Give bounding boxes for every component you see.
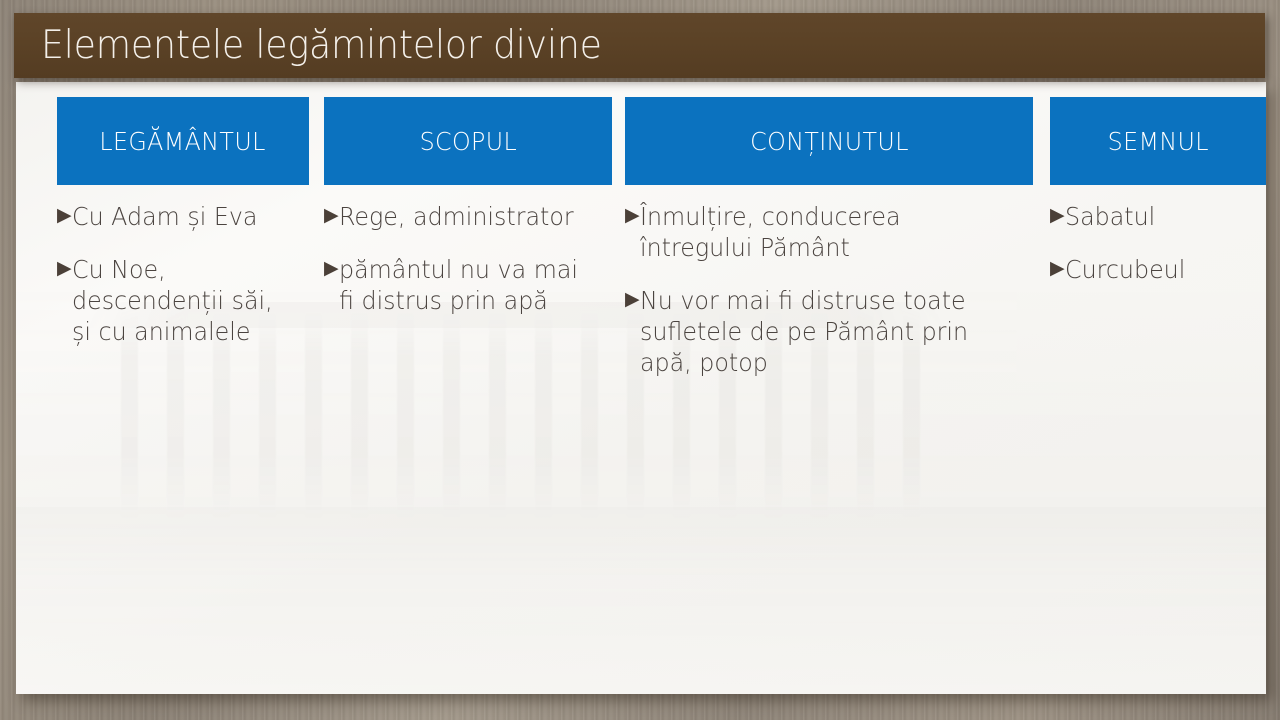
column-header-label: SCOPUL (419, 127, 517, 156)
column-header-label: LEGĂMÂNTUL (100, 127, 266, 156)
list-item-text: Înmulțire, conducerea întregului Pământ (640, 201, 1014, 263)
list-item-text: Curcubeul (1065, 254, 1256, 285)
column-header-continutul[interactable]: CONȚINUTUL (625, 97, 1033, 185)
column-body-continutul: ▶ Înmulțire, conducerea întregului Pămân… (625, 185, 1033, 378)
column-header-semnul[interactable]: SEMNUL (1050, 97, 1266, 185)
list-item: ▶ Cu Adam și Eva (57, 201, 309, 232)
table-column-semnul: SEMNUL ▶ Sabatul ▶ Curcubeul (1050, 97, 1266, 307)
list-item-text: Cu Adam și Eva (72, 201, 298, 232)
column-header-scopul[interactable]: SCOPUL (324, 97, 612, 185)
table-column-scopul: SCOPUL ▶ Rege, administrator ▶ pământul … (324, 97, 612, 338)
bullet-triangle-icon: ▶ (324, 203, 339, 228)
slide-title-bar: Elementele legămintelor divine (14, 13, 1265, 78)
column-body-semnul: ▶ Sabatul ▶ Curcubeul (1050, 185, 1266, 285)
list-item-text: Cu Noe, descendenții săi, și cu animalel… (72, 254, 298, 347)
bullet-triangle-icon: ▶ (57, 256, 72, 281)
list-item: ▶ Nu vor mai fi distruse toate sufletele… (625, 285, 1033, 378)
bullet-triangle-icon: ▶ (625, 203, 640, 228)
list-item: ▶ Cu Noe, descendenții săi, și cu animal… (57, 254, 309, 347)
slide-root: LEGĂMÂNTUL ▶ Cu Adam și Eva ▶ Cu Noe, de… (0, 0, 1280, 720)
list-item: ▶ Înmulțire, conducerea întregului Pămân… (625, 201, 1033, 263)
list-item-text: Nu vor mai fi distruse toate sufletele d… (640, 285, 1014, 378)
table-column-legamantul: LEGĂMÂNTUL ▶ Cu Adam și Eva ▶ Cu Noe, de… (57, 97, 309, 369)
column-header-label: CONȚINUTUL (750, 127, 909, 156)
bullet-triangle-icon: ▶ (1050, 203, 1065, 228)
column-body-scopul: ▶ Rege, administrator ▶ pământul nu va m… (324, 185, 612, 316)
bullet-triangle-icon: ▶ (57, 203, 72, 228)
column-header-legamantul[interactable]: LEGĂMÂNTUL (57, 97, 309, 185)
bullet-triangle-icon: ▶ (625, 287, 640, 312)
slide-content-card: LEGĂMÂNTUL ▶ Cu Adam și Eva ▶ Cu Noe, de… (16, 82, 1266, 694)
list-item: ▶ Sabatul (1050, 201, 1266, 232)
column-body-legamantul: ▶ Cu Adam și Eva ▶ Cu Noe, descendenții … (57, 185, 309, 347)
list-item-text: Sabatul (1065, 201, 1256, 232)
covenant-table: LEGĂMÂNTUL ▶ Cu Adam și Eva ▶ Cu Noe, de… (16, 82, 1266, 694)
list-item: ▶ Curcubeul (1050, 254, 1266, 285)
list-item-text: pământul nu va mai fi distrus prin apă (339, 254, 599, 316)
list-item-text: Rege, administrator (339, 201, 599, 232)
table-column-continutul: CONȚINUTUL ▶ Înmulțire, conducerea între… (625, 97, 1033, 400)
bullet-triangle-icon: ▶ (324, 256, 339, 281)
list-item: ▶ Rege, administrator (324, 201, 612, 232)
page-title: Elementele legămintelor divine (41, 26, 602, 65)
list-item: ▶ pământul nu va mai fi distrus prin apă (324, 254, 612, 316)
column-header-label: SEMNUL (1107, 127, 1208, 156)
bullet-triangle-icon: ▶ (1050, 256, 1065, 281)
